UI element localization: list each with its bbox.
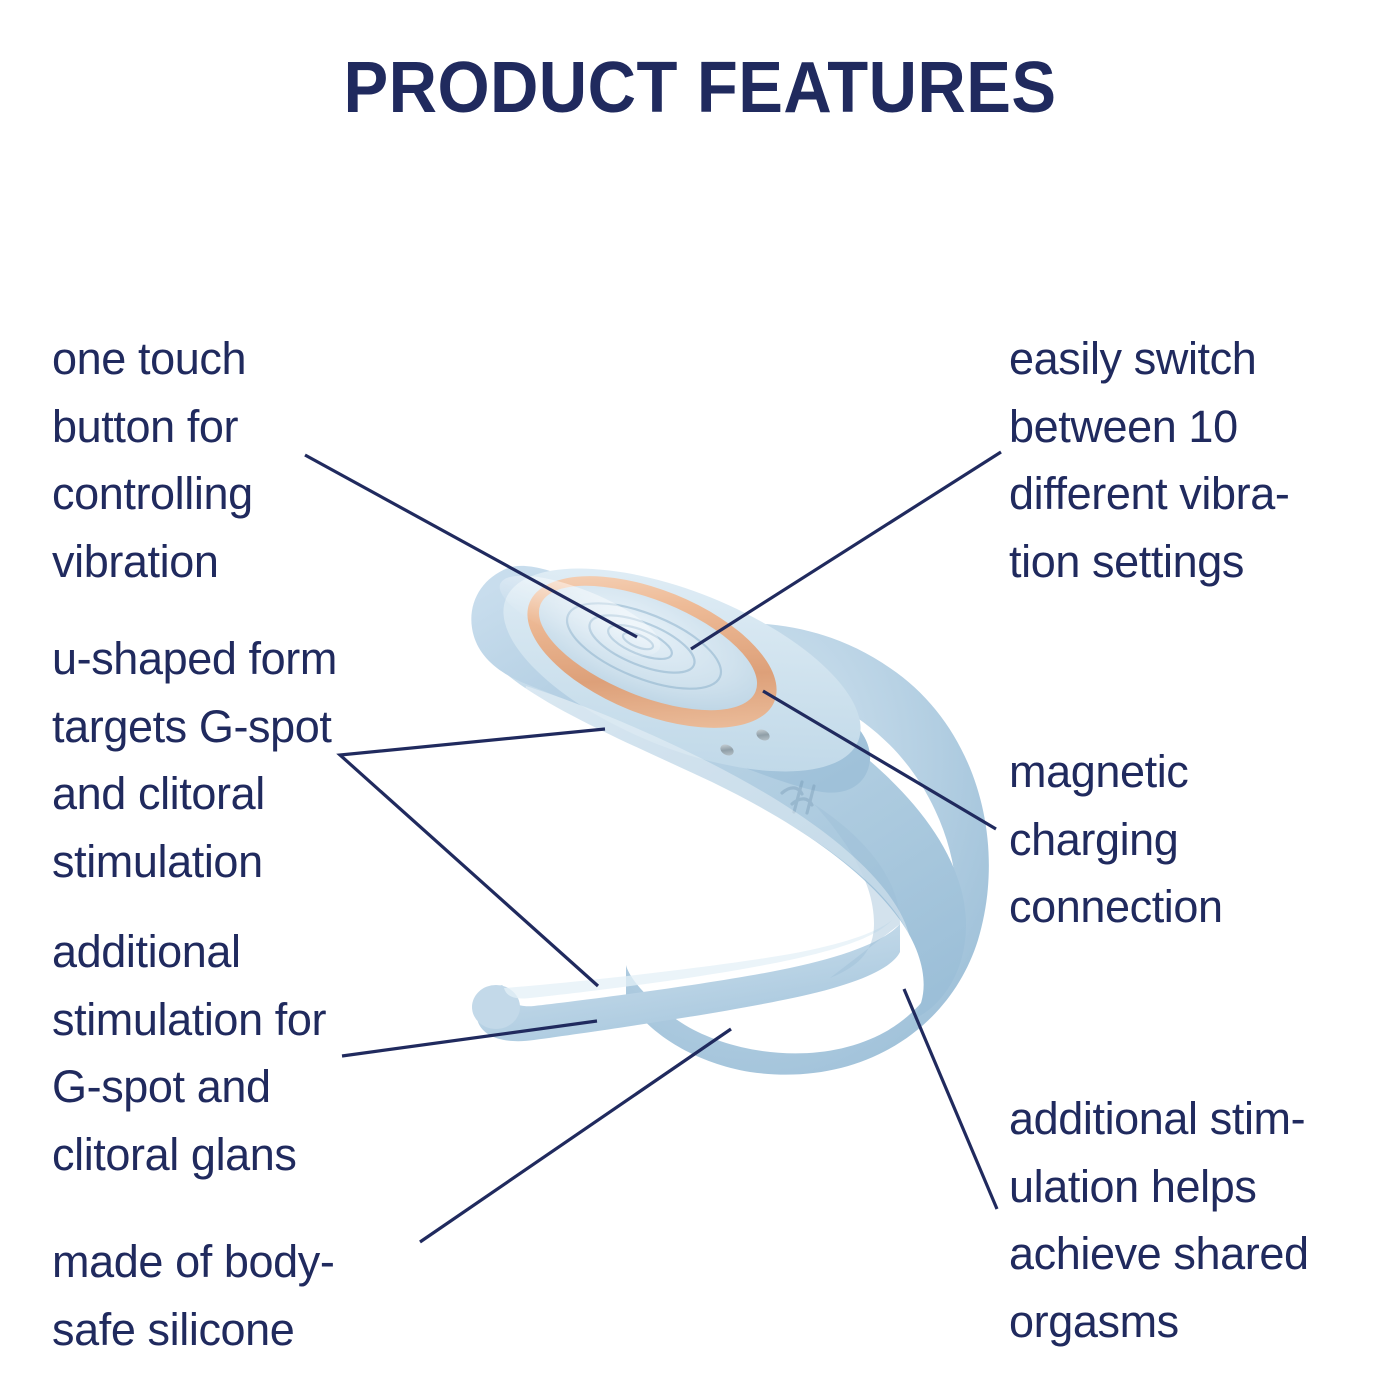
short-arm (476, 924, 900, 1041)
callout-additional-stimulation-gspot: additional stimulation for G-spot and cl… (52, 918, 452, 1188)
callout-one-touch-button: one touch button for controlling vibrati… (52, 325, 422, 595)
callout-magnetic-charging: magnetic charging connection (1009, 738, 1349, 941)
infographic-page: PRODUCT FEATURES (0, 0, 1400, 1400)
page-title: PRODUCT FEATURES (49, 52, 1351, 124)
callout-shared-orgasms: additional stim- ulation helps achieve s… (1009, 1085, 1389, 1355)
product-body (471, 527, 989, 1075)
callout-u-shaped-form: u-shaped form targets G-spot and clitora… (52, 625, 452, 895)
callout-easily-switch-settings: easily switch between 10 different vibra… (1009, 325, 1379, 595)
callout-body-safe-silicone: made of body- safe silicone (52, 1228, 452, 1363)
product-illustration (430, 520, 1010, 1080)
